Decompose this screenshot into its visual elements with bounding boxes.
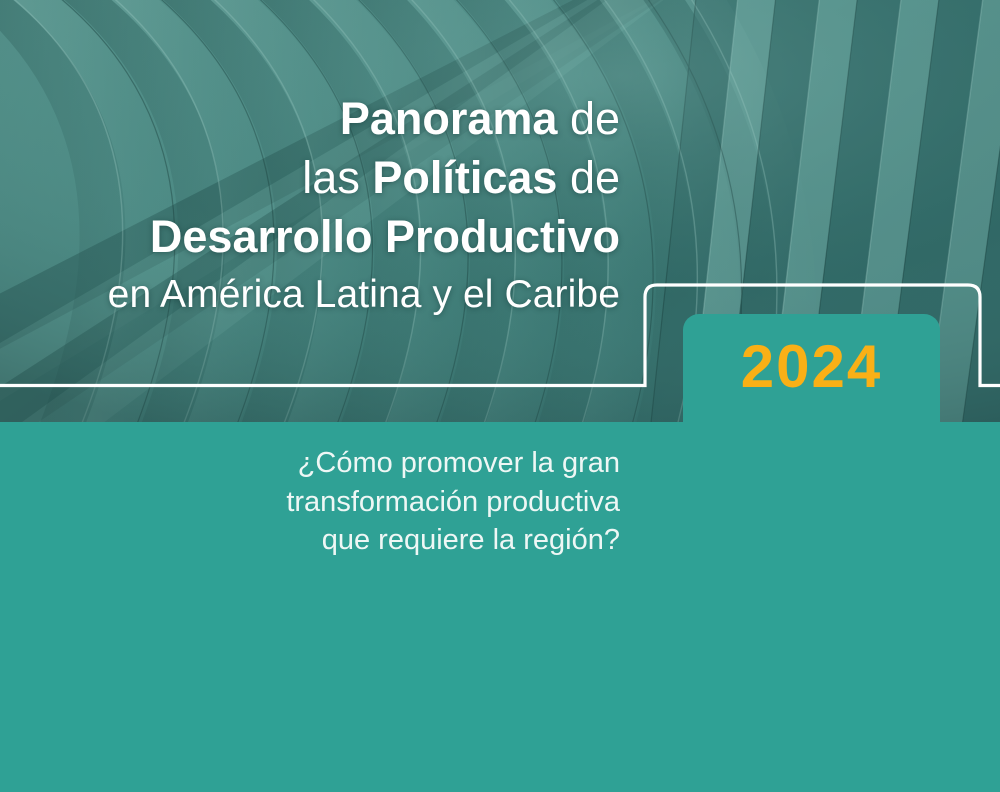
- title-line-3: Desarrollo Productivo: [0, 214, 620, 259]
- report-cover: Panorama de las Políticas de Desarrollo …: [0, 0, 1000, 792]
- title-line-1-bold: Panorama: [340, 93, 558, 144]
- title-line-3-bold: Desarrollo Productivo: [150, 211, 620, 262]
- year-badge-label: 2024: [741, 337, 882, 403]
- subtitle-line-2: transformación productiva: [0, 483, 620, 522]
- title-line-2-bold: Políticas: [372, 152, 557, 203]
- title-line-2-light: de: [570, 152, 620, 203]
- cover-title: Panorama de las Políticas de Desarrollo …: [0, 96, 620, 314]
- title-line-2-light-lead: las: [302, 152, 360, 203]
- cover-subtitle: ¿Cómo promover la gran transformación pr…: [0, 444, 620, 560]
- subtitle-line-3: que requiere la región?: [0, 521, 620, 560]
- year-badge: 2024: [683, 314, 940, 426]
- subtitle-line-1: ¿Cómo promover la gran: [0, 444, 620, 483]
- title-line-2: las Políticas de: [0, 155, 620, 200]
- title-line-1: Panorama de: [0, 96, 620, 141]
- title-line-1-light: de: [570, 93, 620, 144]
- title-line-4: en América Latina y el Caribe: [0, 275, 620, 314]
